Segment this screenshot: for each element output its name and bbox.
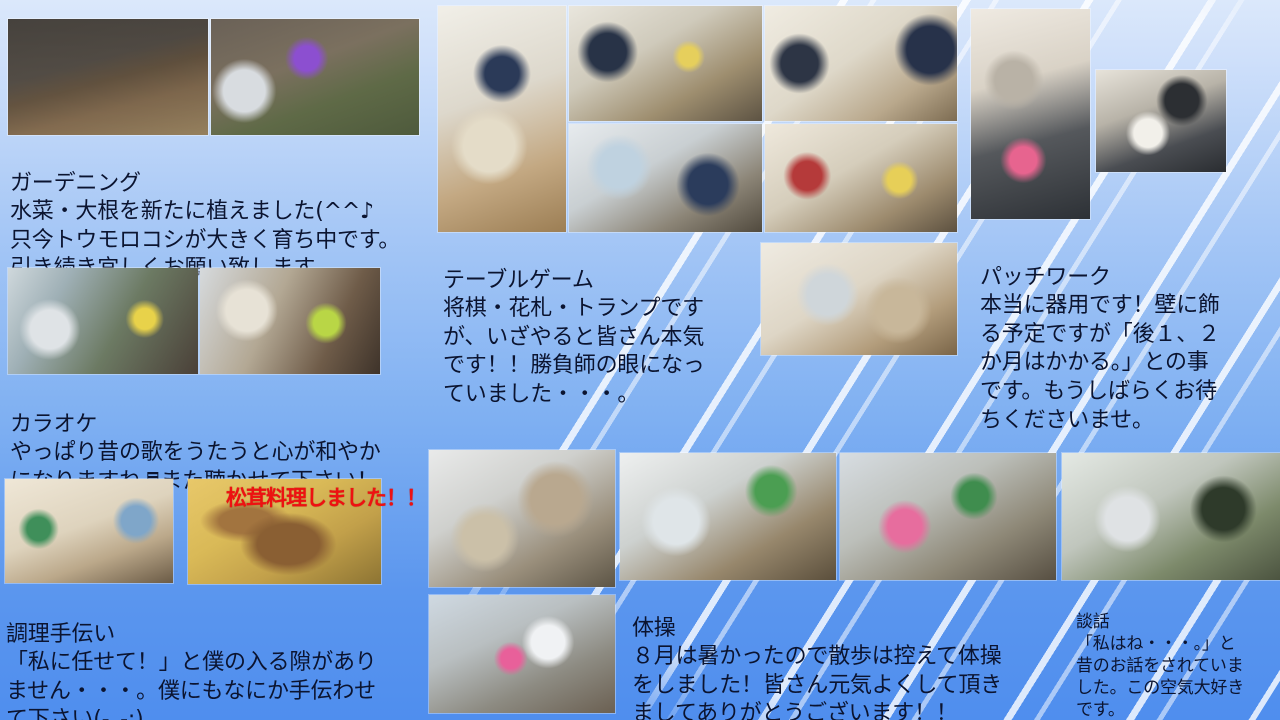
photo-gardening-2-image <box>211 19 419 135</box>
caption-gardening-title: ガーデニング <box>10 170 440 199</box>
caption-exercise-title: 体操 <box>632 615 1052 644</box>
photo-exercise-4 <box>840 453 1056 580</box>
photo-exercise-4-image <box>840 453 1056 580</box>
photo-karaoke-2-image <box>200 268 380 374</box>
photo-exercise-3-image <box>429 595 615 713</box>
photo-gardening-2 <box>211 19 419 135</box>
caption-exercise-body: ８月は暑かったので散歩は控えて体操 をしました！皆さん元気よくして頂き ましてあ… <box>632 644 1002 720</box>
photo-cooking-1 <box>5 479 173 583</box>
caption-patchwork-title: パッチワーク <box>980 264 1280 293</box>
caption-tablegame-title: テーブルゲーム <box>443 267 748 296</box>
slide-canvas: ガーデニング水菜・大根を新たに植えました(^^♪ 只今トウモロコシが大きく育ち中… <box>0 0 1280 720</box>
photo-conversation-1-image <box>1062 453 1280 580</box>
caption-conversation-body: 「私はね・・・。」と 昔のお話をされていま した。この空気大好き です。 <box>1076 634 1244 720</box>
photo-exercise-2 <box>620 453 836 580</box>
photo-tablegame-3-image <box>765 6 957 121</box>
photo-tablegame-4 <box>569 124 762 232</box>
photo-exercise-1-image <box>429 450 615 587</box>
photo-patchwork-1-image <box>971 9 1090 219</box>
photo-cooking-1-image <box>5 479 173 583</box>
caption-karaoke-title: カラオケ <box>10 411 440 440</box>
photo-patchwork-2-image <box>1096 70 1226 172</box>
caption-tablegame-body: 将棋・花札・トランプです が、いざやると皆さん本気 です！！勝負師の眼になっ て… <box>443 296 705 407</box>
photo-tablegame-3 <box>765 6 957 121</box>
caption-exercise: 体操８月は暑かったので散歩は控えて体操 をしました！皆さん元気よくして頂き まし… <box>632 586 1052 720</box>
caption-cooking: 調理手伝い「私に任せて！」と僕の入る隙があり ません・・・。僕にもなにか手伝わせ… <box>6 592 446 720</box>
photo-tablegame-6 <box>761 243 957 355</box>
photo-tablegame-4-image <box>569 124 762 232</box>
photo-tablegame-6-image <box>761 243 957 355</box>
caption-tablegame: テーブルゲーム将棋・花札・トランプです が、いざやると皆さん本気 です！！勝負師… <box>443 238 748 410</box>
caption-patchwork-body: 本当に器用です！壁に飾 る予定ですが「後１、２ か月はかかる。」との事 です。も… <box>980 293 1220 432</box>
photo-patchwork-1 <box>971 9 1090 219</box>
photo-tablegame-2 <box>569 6 762 121</box>
caption-gardening: ガーデニング水菜・大根を新たに植えました(^^♪ 只今トウモロコシが大きく育ち中… <box>10 141 440 284</box>
caption-conversation-title: 談話 <box>1076 611 1280 633</box>
photo-tablegame-1 <box>438 6 566 232</box>
photo-gardening-1-image <box>8 19 208 135</box>
photo-tablegame-2-image <box>569 6 762 121</box>
caption-patchwork: パッチワーク本当に器用です！壁に飾 る予定ですが「後１、２ か月はかかる。」との… <box>980 235 1280 435</box>
photo-patchwork-2 <box>1096 70 1226 172</box>
photo-exercise-3 <box>429 595 615 713</box>
photo-gardening-1 <box>8 19 208 135</box>
photo-karaoke-1-image <box>8 268 198 374</box>
photo-tablegame-5-image <box>765 124 957 232</box>
photo-exercise-2-image <box>620 453 836 580</box>
photo-karaoke-1 <box>8 268 198 374</box>
photo-conversation-1 <box>1062 453 1280 580</box>
photo-exercise-1 <box>429 450 615 587</box>
matsutake-overlay-label: 松茸料理しました！！ <box>226 482 426 512</box>
caption-cooking-title: 調理手伝い <box>6 621 446 650</box>
photo-tablegame-1-image <box>438 6 566 232</box>
caption-conversation: 談話「私はね・・・。」と 昔のお話をされていま した。この空気大好き です。 <box>1076 589 1280 720</box>
photo-tablegame-5 <box>765 124 957 232</box>
photo-karaoke-2 <box>200 268 380 374</box>
caption-cooking-body: 「私に任せて！」と僕の入る隙があり ません・・・。僕にもなにか手伝わせ て下さい… <box>6 650 377 720</box>
